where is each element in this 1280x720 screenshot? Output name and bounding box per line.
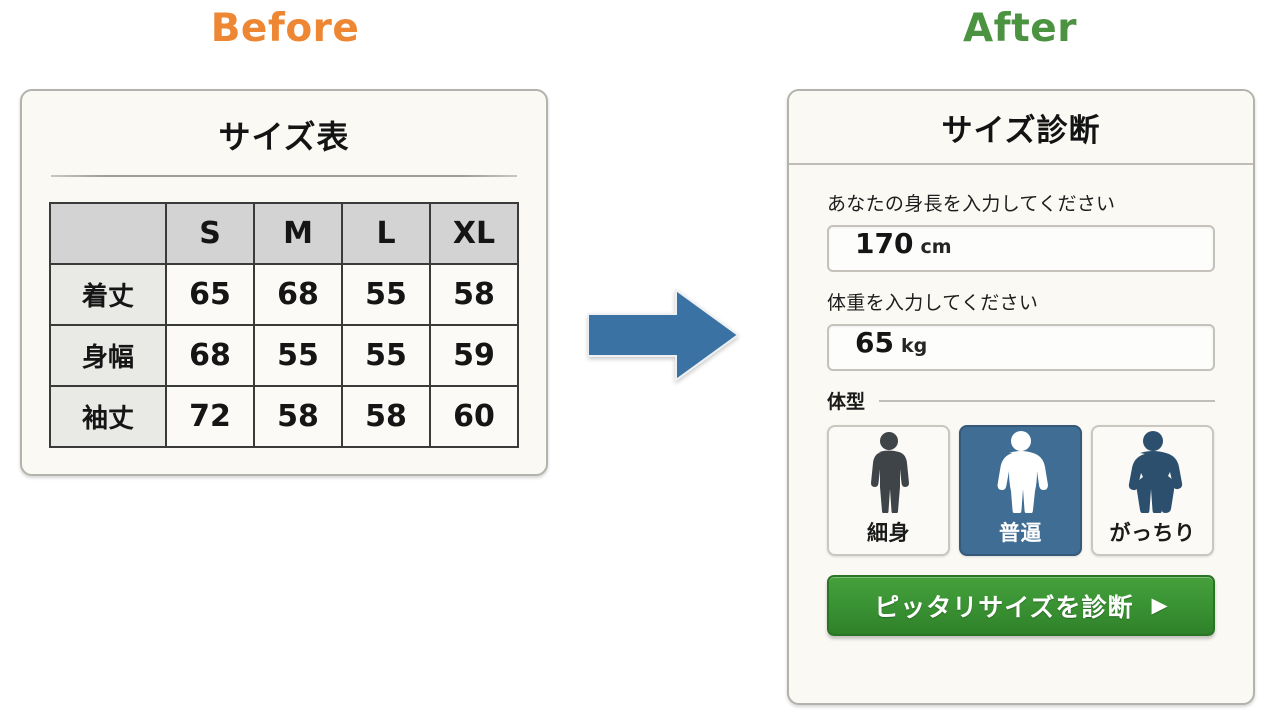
sturdy-person-icon	[1120, 427, 1186, 517]
table-cell: 68	[254, 264, 342, 325]
diagnose-button-label: ピッタリサイズを診断	[874, 588, 1133, 624]
column-header-m: M	[254, 203, 342, 264]
diagnosis-header: サイズ診断	[789, 91, 1253, 165]
table-row: 袖丈 72 58 58 60	[50, 386, 518, 447]
table-cell: 65	[166, 264, 254, 325]
height-input-unit: cm	[920, 236, 951, 258]
table-cell: 59	[430, 325, 518, 386]
table-cell: 58	[342, 386, 430, 447]
column-header-l: L	[342, 203, 430, 264]
bodytype-rule	[879, 400, 1215, 402]
play-arrow-icon: ▶	[1152, 595, 1168, 616]
table-row: 着丈 65 68 55 58	[50, 264, 518, 325]
average-person-icon	[990, 427, 1052, 517]
bodytype-legend: 体型	[827, 387, 865, 414]
size-chart-table: S M L XL 着丈 65 68 55 58 身幅 68 55 55 59	[49, 202, 519, 448]
diagnosis-form: あなたの身長を入力してください 170 cm 体重を入力してください 65 kg…	[789, 165, 1253, 636]
table-cell: 72	[166, 386, 254, 447]
before-heading: Before	[0, 6, 570, 51]
table-corner-cell	[50, 203, 166, 264]
table-cell: 55	[342, 325, 430, 386]
bodytype-section-header: 体型	[827, 387, 1215, 414]
table-cell: 58	[430, 264, 518, 325]
bodytype-option-label: 普逼	[999, 517, 1042, 547]
table-cell: 60	[430, 386, 518, 447]
title-divider	[51, 175, 517, 177]
bodytype-option-label: 細身	[867, 517, 910, 547]
row-header: 身幅	[50, 325, 166, 386]
slim-person-icon	[861, 427, 917, 517]
row-header: 袖丈	[50, 386, 166, 447]
table-header-row: S M L XL	[50, 203, 518, 264]
weight-input[interactable]: 65 kg	[827, 324, 1215, 371]
column-header-xl: XL	[430, 203, 518, 264]
after-panel: サイズ診断 あなたの身長を入力してください 170 cm 体重を入力してください…	[787, 89, 1255, 705]
bodytype-option-group: 細身 普逼 がっちり	[827, 425, 1215, 556]
height-input-value: 170	[855, 227, 913, 260]
diagnosis-title: サイズ診断	[941, 105, 1100, 150]
weight-input-unit: kg	[901, 335, 927, 357]
diagnose-button[interactable]: ピッタリサイズを診断 ▶	[827, 575, 1215, 636]
table-cell: 68	[166, 325, 254, 386]
bodytype-option-average[interactable]: 普逼	[959, 425, 1082, 556]
height-field-label: あなたの身長を入力してください	[827, 189, 1215, 216]
arrow-right-icon	[588, 288, 738, 382]
bodytype-option-slim[interactable]: 細身	[827, 425, 950, 556]
weight-input-value: 65	[855, 326, 894, 359]
height-input[interactable]: 170 cm	[827, 225, 1215, 272]
after-heading: After	[770, 6, 1270, 51]
table-cell: 55	[342, 264, 430, 325]
bodytype-option-label: がっちり	[1110, 517, 1196, 547]
table-row: 身幅 68 55 55 59	[50, 325, 518, 386]
bodytype-option-sturdy[interactable]: がっちり	[1091, 425, 1214, 556]
size-chart-title: サイズ表	[22, 112, 546, 158]
weight-field-label: 体重を入力してください	[827, 288, 1215, 315]
before-panel: サイズ表 S M L XL 着丈 65 68 55 58 身幅	[20, 89, 548, 476]
row-header: 着丈	[50, 264, 166, 325]
table-cell: 55	[254, 325, 342, 386]
table-cell: 58	[254, 386, 342, 447]
column-header-s: S	[166, 203, 254, 264]
